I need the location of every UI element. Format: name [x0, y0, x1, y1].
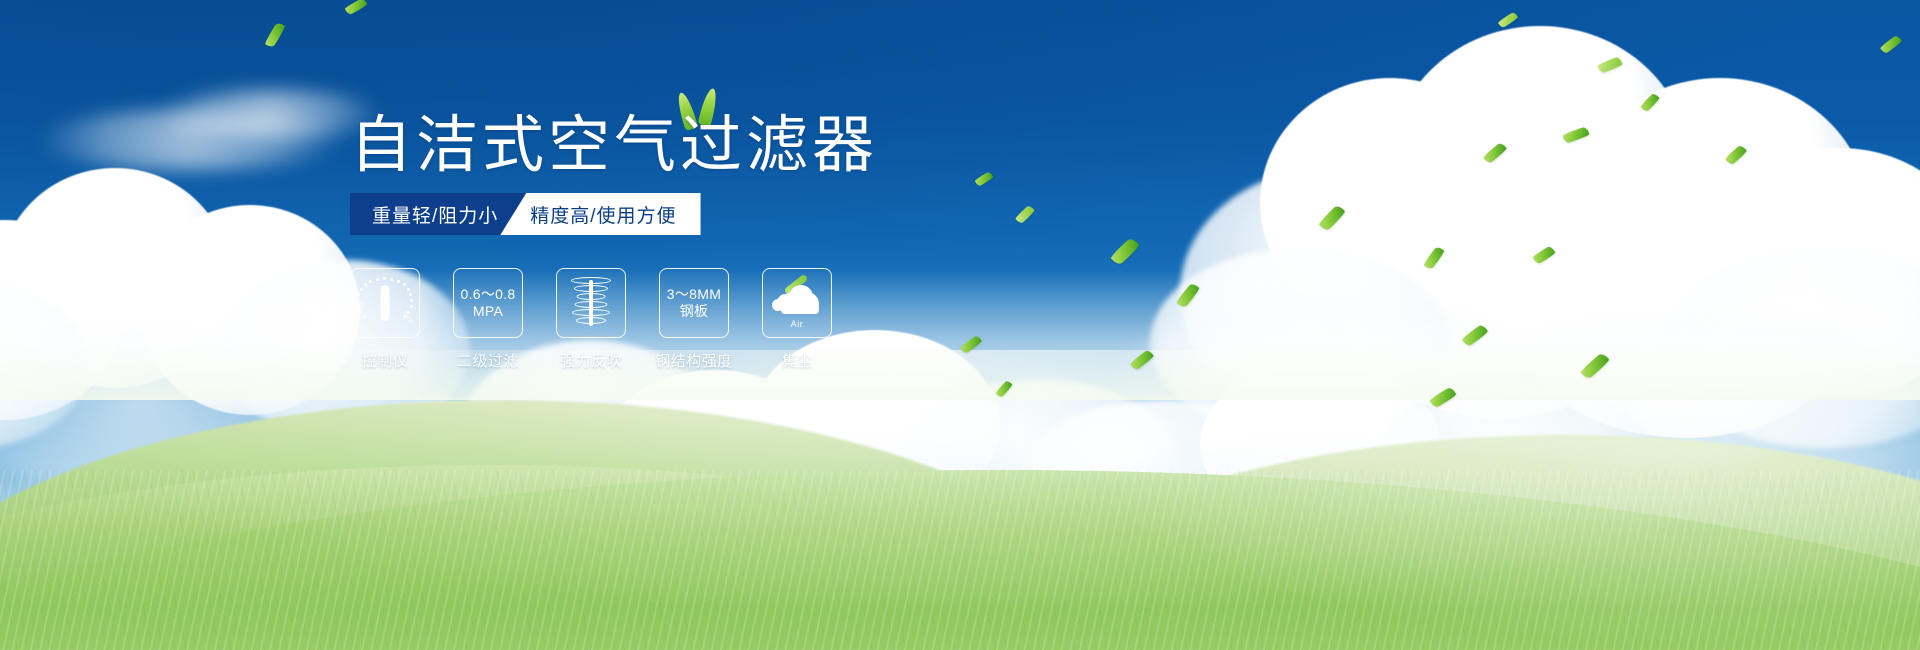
feature-caption: 控制仪	[362, 350, 409, 371]
feature-caption: 二级过滤	[457, 350, 519, 371]
pressure-unit: MPA	[460, 303, 515, 320]
feature-caption: 钢结构强度	[655, 350, 733, 371]
feature-item-dust[interactable]: Air 集尘	[762, 268, 832, 371]
feature-item-control[interactable]: NO OFF 控制仪	[350, 268, 420, 371]
page-title: 自洁式空气过滤器	[350, 115, 878, 177]
steel-thickness: 3～8MM	[667, 286, 721, 303]
tag-primary: 重量轻/阻力小	[350, 193, 526, 235]
feature-tag-strip: 重量轻/阻力小 精度高/使用方便	[350, 193, 701, 235]
coil-blowback-icon	[569, 277, 613, 329]
steel-plate-text-icon: 3～8MM 钢板	[667, 286, 721, 319]
air-label: Air	[771, 319, 823, 329]
feature-icon-box: NO OFF	[350, 268, 420, 338]
feature-item-blowback[interactable]: 强力反吹	[556, 268, 626, 371]
tag-secondary: 精度高/使用方便	[500, 193, 700, 235]
gauge-label-no: NO	[357, 301, 367, 313]
steel-material: 钢板	[667, 303, 721, 320]
pressure-text-icon: 0.6～0.8 MPA	[460, 286, 515, 319]
gauge-label-off: OFF	[401, 311, 413, 326]
feature-caption: 集尘	[781, 350, 812, 371]
feature-row: NO OFF 控制仪 0.6～0.8 MPA 二级过滤	[350, 268, 832, 371]
gauge-control-icon: NO OFF	[357, 277, 413, 329]
feature-icon-box	[556, 268, 626, 338]
gauge-needle	[381, 285, 390, 321]
banner-content: 自洁式空气过滤器 重量轻/阻力小 精度高/使用方便	[0, 0, 1920, 650]
product-banner: 自洁式空气过滤器 重量轻/阻力小 精度高/使用方便	[0, 0, 1920, 650]
feature-icon-box: 0.6～0.8 MPA	[453, 268, 523, 338]
pressure-value: 0.6～0.8	[460, 286, 515, 303]
feature-item-steel[interactable]: 3～8MM 钢板 钢结构强度	[659, 268, 729, 371]
feature-icon-box: 3～8MM 钢板	[659, 268, 729, 338]
air-cloud-dust-icon: Air	[771, 280, 823, 326]
feature-item-filter[interactable]: 0.6～0.8 MPA 二级过滤	[453, 268, 523, 371]
feature-icon-box: Air	[762, 268, 832, 338]
feature-caption: 强力反吹	[560, 350, 622, 371]
